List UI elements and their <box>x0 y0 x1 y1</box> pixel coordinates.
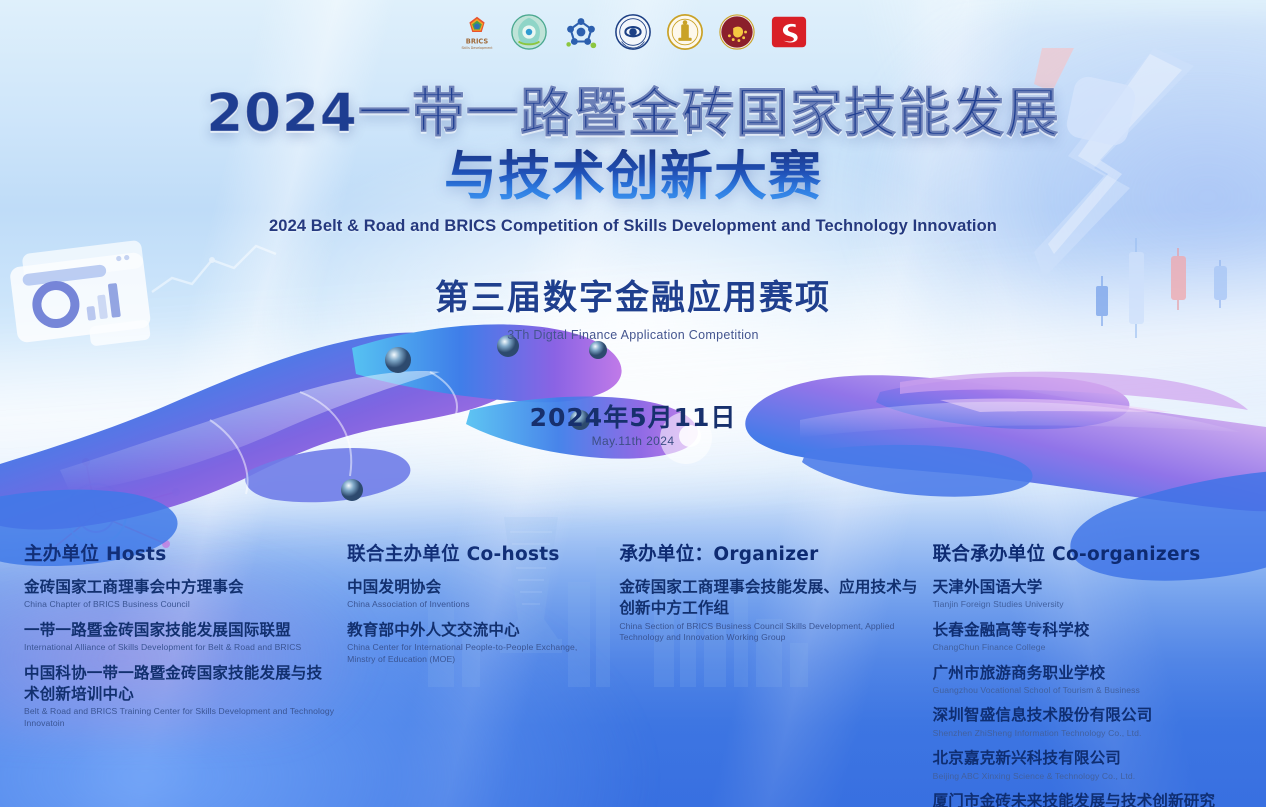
maroon-circular-seal-logo <box>718 13 756 51</box>
org-entry: 长春金融高等专科学校 ChangChun Finance College <box>933 620 1230 654</box>
svg-text:BRICS: BRICS <box>466 37 489 45</box>
blue-star-molecule-logo <box>562 13 600 51</box>
org-name-en: China Association of Inventions <box>347 599 607 610</box>
org-name-en: China Center for International People-to… <box>347 642 607 665</box>
org-entry: 深圳智盛信息技术股份有限公司 Shenzhen ZhiSheng Informa… <box>933 705 1230 739</box>
green-emblem-logo <box>510 13 548 51</box>
org-name-en: Tianjin Foreign Studies University <box>933 599 1230 610</box>
org-entry: 北京嘉克新兴科技有限公司 Beijing ABC Xinxing Science… <box>933 748 1230 782</box>
title-block: 2024一带一路暨金砖国家技能发展 与技术创新大赛 2024 Belt & Ro… <box>0 86 1266 342</box>
brics-skills-logo: BRICS Skills Development <box>458 13 496 51</box>
org-column-hosts: 主办单位 Hosts 金砖国家工商理事会中方理事会 China Chapter … <box>24 540 347 738</box>
org-name-cn: 长春金融高等专科学校 <box>933 620 1230 641</box>
org-name-cn: 深圳智盛信息技术股份有限公司 <box>933 705 1230 726</box>
organizer-logo-strip: BRICS Skills Development <box>0 11 1266 53</box>
org-name-en: China Section of BRICS Business Council … <box>619 621 920 644</box>
org-entry: 天津外国语大学 Tianjin Foreign Studies Universi… <box>933 577 1230 611</box>
org-name-cn: 天津外国语大学 <box>933 577 1230 598</box>
org-column-heading: 主办单位 Hosts <box>24 540 335 566</box>
org-entry: 广州市旅游商务职业学校 Guangzhou Vocational School … <box>933 663 1230 697</box>
org-entry: 金砖国家工商理事会中方理事会 China Chapter of BRICS Bu… <box>24 577 335 611</box>
org-name-cn: 教育部中外人文交流中心 <box>347 620 607 641</box>
org-name-cn: 厦门市金砖未来技能发展与技术创新研究院 <box>933 791 1230 807</box>
red-square-logo <box>770 13 808 51</box>
org-name-cn: 北京嘉克新兴科技有限公司 <box>933 748 1230 769</box>
org-name-en: Beijing ABC Xinxing Science & Technology… <box>933 771 1230 782</box>
org-name-cn: 金砖国家工商理事会中方理事会 <box>24 577 335 598</box>
org-entry: 金砖国家工商理事会技能发展、应用技术与创新中方工作组 China Section… <box>619 577 920 644</box>
org-column-coorganizers: 联合承办单位 Co-organizers 天津外国语大学 Tianjin For… <box>933 540 1242 807</box>
org-column-organizer: 承办单位：Organizer 金砖国家工商理事会技能发展、应用技术与创新中方工作… <box>619 540 932 653</box>
org-entry: 中国科协一带一路暨金砖国家技能发展与技术创新培训中心 Belt & Road a… <box>24 663 335 730</box>
main-title-english: 2024 Belt & Road and BRICS Competition o… <box>0 217 1266 236</box>
org-name-cn: 中国发明协会 <box>347 577 607 598</box>
event-date-english: May.11th 2024 <box>0 434 1266 448</box>
organizations-section: 主办单位 Hosts 金砖国家工商理事会中方理事会 China Chapter … <box>0 540 1266 807</box>
org-name-cn: 金砖国家工商理事会技能发展、应用技术与创新中方工作组 <box>619 577 920 620</box>
org-name-cn: 广州市旅游商务职业学校 <box>933 663 1230 684</box>
org-name-en: Shenzhen ZhiSheng Information Technology… <box>933 728 1230 739</box>
svg-text:Skills Development: Skills Development <box>462 46 494 50</box>
subtitle-english: 3Th Digtal Finance Application Competiti… <box>0 328 1266 342</box>
main-title-line-1: 2024一带一路暨金砖国家技能发展 <box>0 86 1266 142</box>
org-name-cn: 一带一路暨金砖国家技能发展国际联盟 <box>24 620 335 641</box>
navy-circular-seal-logo <box>614 13 652 51</box>
org-name-en: Belt & Road and BRICS Training Center fo… <box>24 706 335 729</box>
org-entry: 厦门市金砖未来技能发展与技术创新研究院 BRICS Academy of Ski… <box>933 791 1230 807</box>
event-date-chinese: 2024年5月11日 <box>0 398 1266 434</box>
org-column-cohosts: 联合主办单位 Co-hosts 中国发明协会 China Association… <box>347 540 619 674</box>
org-entry: 一带一路暨金砖国家技能发展国际联盟 International Alliance… <box>24 620 335 654</box>
org-name-en: China Chapter of BRICS Business Council <box>24 599 335 610</box>
org-name-en: Guangzhou Vocational School of Tourism &… <box>933 685 1230 696</box>
subtitle-chinese: 第三届数字金融应用赛项 <box>0 270 1266 319</box>
main-title-line-2: 与技术创新大赛 <box>0 149 1266 205</box>
org-name-en: International Alliance of Skills Develop… <box>24 642 335 653</box>
org-name-cn: 中国科协一带一路暨金砖国家技能发展与技术创新培训中心 <box>24 663 335 706</box>
org-entry: 中国发明协会 China Association of Inventions <box>347 577 607 611</box>
gold-circular-seal-logo <box>666 13 704 51</box>
org-column-heading: 承办单位：Organizer <box>619 540 920 566</box>
org-entry: 教育部中外人文交流中心 China Center for Internation… <box>347 620 607 665</box>
org-name-en: ChangChun Finance College <box>933 642 1230 653</box>
competition-poster: BRICS Skills Development <box>0 0 1266 807</box>
org-column-heading: 联合主办单位 Co-hosts <box>347 540 607 566</box>
org-column-heading: 联合承办单位 Co-organizers <box>933 540 1230 566</box>
